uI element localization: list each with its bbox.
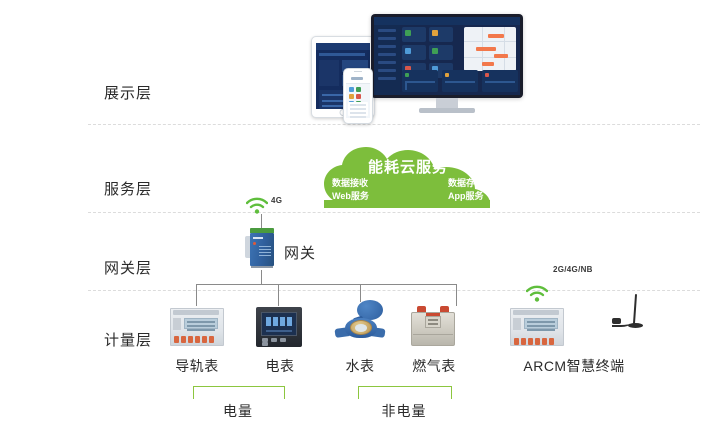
wifi-icon bbox=[526, 285, 548, 302]
monitor-bottom-cards bbox=[402, 70, 516, 92]
architecture-diagram: 展示层 服务层 网关层 计量层 bbox=[0, 0, 715, 443]
bracket-label-electric: 电量 bbox=[193, 401, 283, 421]
connector-drop-electric bbox=[278, 284, 279, 306]
device-label-arcm: ARCM智慧终端 bbox=[519, 356, 629, 376]
gas-meter-icon bbox=[409, 306, 457, 346]
cloud-column-receive: 数据接收 Web服务 bbox=[332, 177, 369, 203]
din-rail-meter-icon bbox=[170, 308, 224, 346]
monitor-sidebar bbox=[374, 25, 400, 95]
layer-divider-display bbox=[88, 124, 700, 125]
bracket-non-electric bbox=[358, 386, 452, 399]
cloud-column-storage: 数据存储 App服务 bbox=[448, 177, 484, 203]
layer-label-display: 展示层 bbox=[104, 82, 184, 103]
layer-divider-service bbox=[88, 212, 700, 213]
panel-meter-icon bbox=[256, 307, 302, 347]
cloud-service-node: 能耗云服务 数据接收 Web服务 数据存储 App服务 bbox=[318, 146, 498, 208]
phone-screen bbox=[346, 74, 370, 118]
bracket-label-non-electric: 非电量 bbox=[358, 401, 450, 421]
phone-device bbox=[343, 68, 373, 124]
connector-meter-bus bbox=[196, 284, 456, 285]
connector-drop-gas bbox=[456, 284, 457, 306]
connector-gateway-trunk bbox=[261, 270, 262, 284]
connector-gateway-cloud bbox=[261, 214, 262, 228]
monitor-bezel bbox=[371, 14, 523, 98]
gateway-device-icon bbox=[245, 228, 279, 268]
bracket-electric bbox=[193, 386, 285, 399]
water-meter-icon bbox=[335, 300, 385, 344]
terminal-network-label: 2G/4G/NB bbox=[553, 265, 593, 274]
monitor-map-panel bbox=[464, 27, 516, 71]
monitor-stand-neck bbox=[436, 98, 458, 108]
layer-label-service: 服务层 bbox=[104, 178, 184, 199]
layer-divider-gateway bbox=[88, 290, 700, 291]
device-label-electric: 电表 bbox=[255, 356, 305, 376]
monitor-stand-base bbox=[419, 108, 475, 113]
device-label-water: 水表 bbox=[335, 356, 385, 376]
desktop-monitor-device bbox=[371, 14, 523, 116]
device-label-gas: 燃气表 bbox=[407, 356, 461, 376]
gateway-label: 网关 bbox=[284, 242, 316, 263]
gateway-uplink-label: 4G bbox=[271, 196, 282, 205]
arcm-terminal-icon bbox=[510, 308, 568, 348]
device-label-din-rail: 导轨表 bbox=[165, 356, 229, 376]
monitor-screen bbox=[374, 17, 520, 95]
cloud-title: 能耗云服务 bbox=[318, 156, 498, 177]
wifi-icon bbox=[246, 197, 268, 214]
connector-drop-din bbox=[196, 284, 197, 306]
antenna-icon bbox=[612, 294, 644, 332]
layer-label-gateway: 网关层 bbox=[104, 257, 184, 278]
